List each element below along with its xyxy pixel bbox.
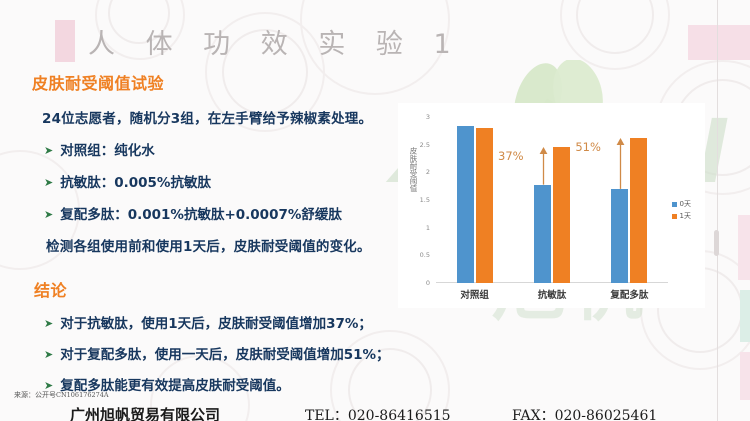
experiment-bullet: ➤ 对照组：纯化水 — [44, 139, 414, 159]
conclusion-bullet: ➤ 对于复配多肽，使用一天后，皮肤耐受阈值增加51%； — [44, 343, 414, 363]
bullet-arrow-icon: ➤ — [44, 317, 53, 330]
experiment-bullet-label: 对照组：纯化水 — [60, 139, 155, 159]
experiment-intro: 24位志愿者，随机分3组，在左手臂给予辣椒素处理。 — [42, 107, 414, 127]
bullet-arrow-icon: ➤ — [44, 176, 53, 189]
patent-number: CN106176274A — [56, 391, 109, 399]
conclusion-bullet-label: 对于抗敏肽，使用1天后，皮肤耐受阈值增加37%； — [60, 312, 372, 332]
slide-canvas: XUFAN 旭帆 人 体 功 效 实 验 1 皮肤耐受阈值试验 24位志愿者，随… — [0, 0, 750, 421]
chart-bar-group — [534, 117, 570, 283]
chart-bar[interactable] — [611, 189, 628, 283]
chart-legend: 0天1天 — [672, 199, 691, 222]
edge-decor-green — [740, 290, 750, 342]
fax-number: FAX：020-86025461 — [512, 405, 657, 421]
legend-swatch — [672, 202, 677, 207]
chart-legend-item[interactable]: 0天 — [672, 199, 691, 211]
bullet-arrow-icon: ➤ — [44, 208, 53, 221]
legend-swatch — [672, 214, 677, 219]
decor-swirl — [576, 0, 654, 54]
edge-decor-pink — [688, 25, 750, 60]
chart-bar[interactable] — [534, 185, 551, 283]
experiment-bullet: ➤ 抗敏肽：0.005%抗敏肽 — [44, 171, 414, 191]
decor-swirl — [560, 0, 670, 70]
chart-bar[interactable] — [553, 147, 570, 283]
chart-y-tick-label: 2 — [426, 168, 430, 176]
telephone-number: TEL：020-86416515 — [305, 405, 451, 421]
experiment-closing: 检测各组使用前和使用1天后，皮肤耐受阈值的变化。 — [46, 235, 414, 255]
legend-label: 1天 — [680, 211, 691, 223]
chart-y-tick-label: 0 — [426, 279, 430, 287]
chart-y-axis-title: 皮肤耐受阈值 — [406, 147, 417, 192]
experiment-heading: 皮肤耐受阈值试验 — [32, 70, 414, 94]
chart-y-tick-label: 1 — [426, 224, 430, 232]
source-note: 来源：公开号CN106176274A — [14, 390, 109, 400]
header-accent-bar — [55, 20, 75, 62]
chart-y-tick-label: 0.5 — [420, 251, 430, 259]
increase-arrow-icon — [616, 138, 625, 189]
conclusion-bullet-label: 对于复配多肽，使用一天后，皮肤耐受阈值增加51%； — [60, 343, 389, 363]
conclusion-bullet: ➤ 对于抗敏肽，使用1天后，皮肤耐受阈值增加37%； — [44, 312, 414, 332]
chart-increase-annotation: 51% — [575, 140, 601, 154]
chart-bar-group — [457, 117, 493, 283]
page-title: 人 体 功 效 实 验 1 — [88, 22, 462, 61]
scrollbar-thumb[interactable] — [714, 230, 719, 256]
experiment-bullet-label: 抗敏肽：0.005%抗敏肽 — [60, 171, 211, 191]
conclusion-heading: 结论 — [34, 277, 414, 301]
source-prefix-label: 来源：公开号 — [14, 391, 56, 399]
chart-y-tick-label: 2.5 — [420, 141, 430, 149]
chart-y-tick-label: 3 — [426, 113, 430, 121]
chart-x-label: 抗敏肽 — [512, 287, 592, 301]
experiment-bullet: ➤ 复配多肽：0.001%抗敏肽+0.0007%舒缓肽 — [44, 203, 414, 223]
edge-decor-pink — [740, 352, 750, 400]
content-column: 皮肤耐受阈值试验 24位志愿者，随机分3组，在左手臂给予辣椒素处理。 ➤ 对照组… — [22, 70, 414, 394]
chart-bar[interactable] — [457, 126, 474, 283]
chart-bar[interactable] — [630, 138, 647, 283]
experiment-bullet-label: 复配多肽：0.001%抗敏肽+0.0007%舒缓肽 — [60, 203, 342, 223]
chart-bar[interactable] — [476, 128, 493, 283]
edge-decor-pink — [738, 215, 750, 280]
chart-panel: 皮肤耐受阈值 00.511.522.53 对照组抗敏肽复配多肽 37%51% 0… — [398, 103, 705, 308]
chart-x-label: 对照组 — [435, 287, 515, 301]
right-divider — [717, 0, 718, 421]
chart-legend-item[interactable]: 1天 — [672, 211, 691, 223]
legend-label: 0天 — [680, 199, 691, 211]
bullet-arrow-icon: ➤ — [44, 144, 53, 157]
increase-arrow-icon — [539, 147, 548, 185]
chart-y-tick-label: 1.5 — [420, 196, 430, 204]
chart-increase-annotation: 37% — [498, 149, 524, 163]
chart-plot-area: 00.511.522.53 对照组抗敏肽复配多肽 37%51% — [436, 117, 668, 283]
bullet-arrow-icon: ➤ — [44, 348, 53, 361]
company-name: 广州旭帆贸易有限公司 — [70, 404, 220, 421]
chart-x-label: 复配多肽 — [589, 287, 669, 301]
